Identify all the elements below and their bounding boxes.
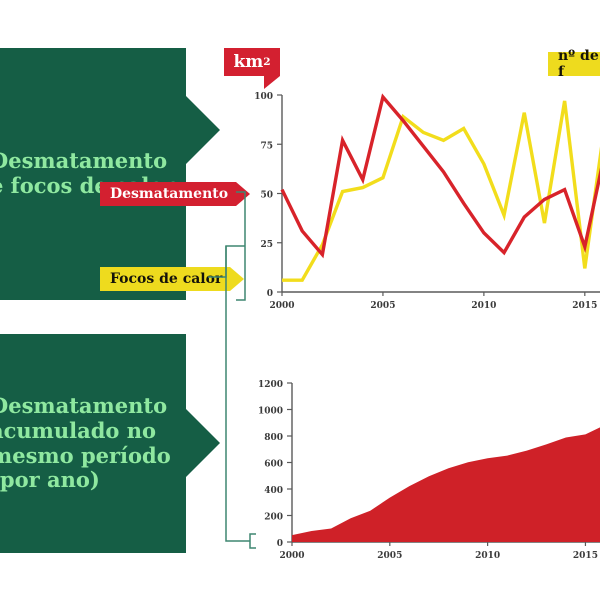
y-tick-label: 100 — [254, 92, 273, 102]
y-tick-label: 50 — [260, 191, 273, 201]
legend-badge-fires-body: Focos de calor — [100, 267, 230, 291]
y-tick-label: 1200 — [258, 380, 283, 390]
x-tick-label: 2010 — [475, 551, 500, 561]
legend-badge-deforestation-tip-icon — [236, 182, 250, 206]
y-tick-label: 0 — [277, 539, 283, 549]
x-tick-label: 2000 — [279, 551, 304, 561]
x-tick-label: 2000 — [269, 301, 294, 311]
y-tick-label: 75 — [260, 141, 273, 151]
x-tick-label: 2010 — [471, 301, 496, 311]
bottom-chart-x-axis: 2000200520102015 — [279, 542, 598, 561]
y-tick-label: 600 — [264, 460, 283, 470]
panel-bottom-text: Desmatamento acumulado no mesmo período … — [0, 394, 171, 493]
legend-label-deforestation: Desmatamento — [110, 186, 228, 202]
unit-badge-km2: km2 — [224, 48, 280, 76]
y-tick-label: 200 — [264, 513, 283, 523]
top-chart-y-axis: 0255075100 — [254, 92, 282, 299]
y-tick-label: 0 — [267, 289, 273, 299]
y-tick-label: 400 — [264, 486, 283, 496]
legend-badge-deforestation[interactable]: Desmatamento — [100, 182, 250, 206]
chart-accumulated-deforestation-area: 020040060080010001200 2000200520102015 — [250, 375, 600, 570]
y-tick-label: 25 — [260, 240, 273, 250]
legend-badge-deforestation-body: Desmatamento — [100, 182, 236, 206]
x-tick-label: 2015 — [572, 301, 597, 311]
top-chart-svg: 0255075100 2000200520102015 — [250, 85, 600, 320]
panel-bottom-arrow-icon — [186, 409, 220, 477]
x-tick-label: 2005 — [377, 551, 402, 561]
bottom-chart-y-axis: 020040060080010001200 — [258, 380, 292, 549]
top-chart-x-axis: 2000200520102015 — [269, 292, 597, 311]
x-tick-label: 2015 — [573, 551, 598, 561]
infographic-canvas: Desmatamento e focos de calor Desmatamen… — [0, 0, 600, 600]
y-tick-label: 1000 — [258, 407, 283, 417]
legend-badge-fires-tip-icon — [230, 267, 244, 291]
legend-badge-fires[interactable]: Focos de calor — [100, 267, 244, 291]
series-area-desmatamento-acumulado — [292, 425, 600, 542]
y-tick-label: 800 — [264, 433, 283, 443]
panel-accumulated-deforestation: Desmatamento acumulado no mesmo período … — [0, 334, 186, 553]
panel-top-arrow-icon — [186, 96, 220, 164]
panel-deforestation-fires: Desmatamento e focos de calor — [0, 48, 186, 300]
unit-badge-focos: nº de f — [548, 52, 600, 76]
legend-label-fires: Focos de calor — [110, 271, 222, 287]
unit-badge-focos-label: nº de f — [558, 48, 600, 80]
unit-badge-km2-label: km — [233, 52, 263, 72]
x-tick-label: 2005 — [370, 301, 395, 311]
series-line-focos-de-calor — [282, 101, 600, 280]
chart-deforestation-fires-lines: 0255075100 2000200520102015 — [250, 85, 600, 320]
bottom-chart-svg: 020040060080010001200 2000200520102015 — [250, 375, 600, 570]
